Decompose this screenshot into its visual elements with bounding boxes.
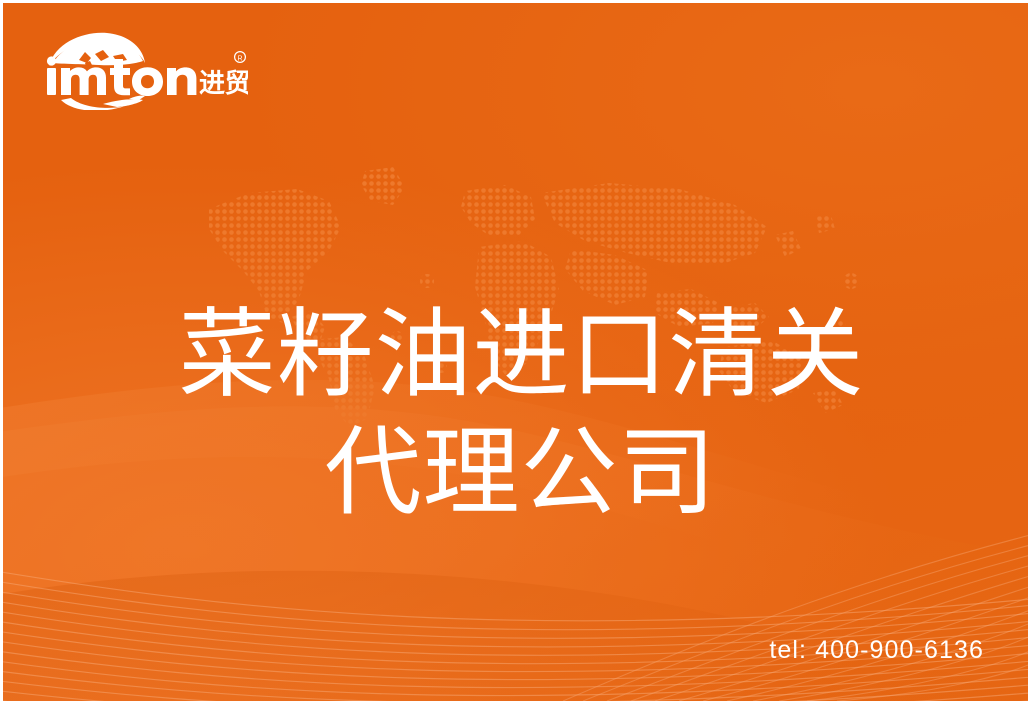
- promo-banner: 进贸通 R 菜籽油进口清关 代理公司 tel: 400-900-6136: [0, 0, 1031, 704]
- contact-phone[interactable]: tel: 400-900-6136: [769, 636, 984, 665]
- headline-line-1: 菜籽油进口清关: [9, 296, 1031, 414]
- svg-text:R: R: [237, 56, 242, 63]
- brand-logo[interactable]: 进贸通 R: [43, 30, 248, 110]
- headline-line-2: 代理公司: [7, 414, 1031, 532]
- headline: 菜籽油进口清关 代理公司: [3, 296, 1031, 532]
- trademark-icon: R: [235, 52, 246, 63]
- svg-text:进贸通: 进贸通: [199, 68, 248, 98]
- globe-arc-icon: [49, 33, 145, 66]
- logo-chinese-name: 进贸通: [199, 68, 248, 98]
- swoosh-icon: [61, 96, 145, 110]
- logo-mark: 进贸通 R: [43, 30, 248, 110]
